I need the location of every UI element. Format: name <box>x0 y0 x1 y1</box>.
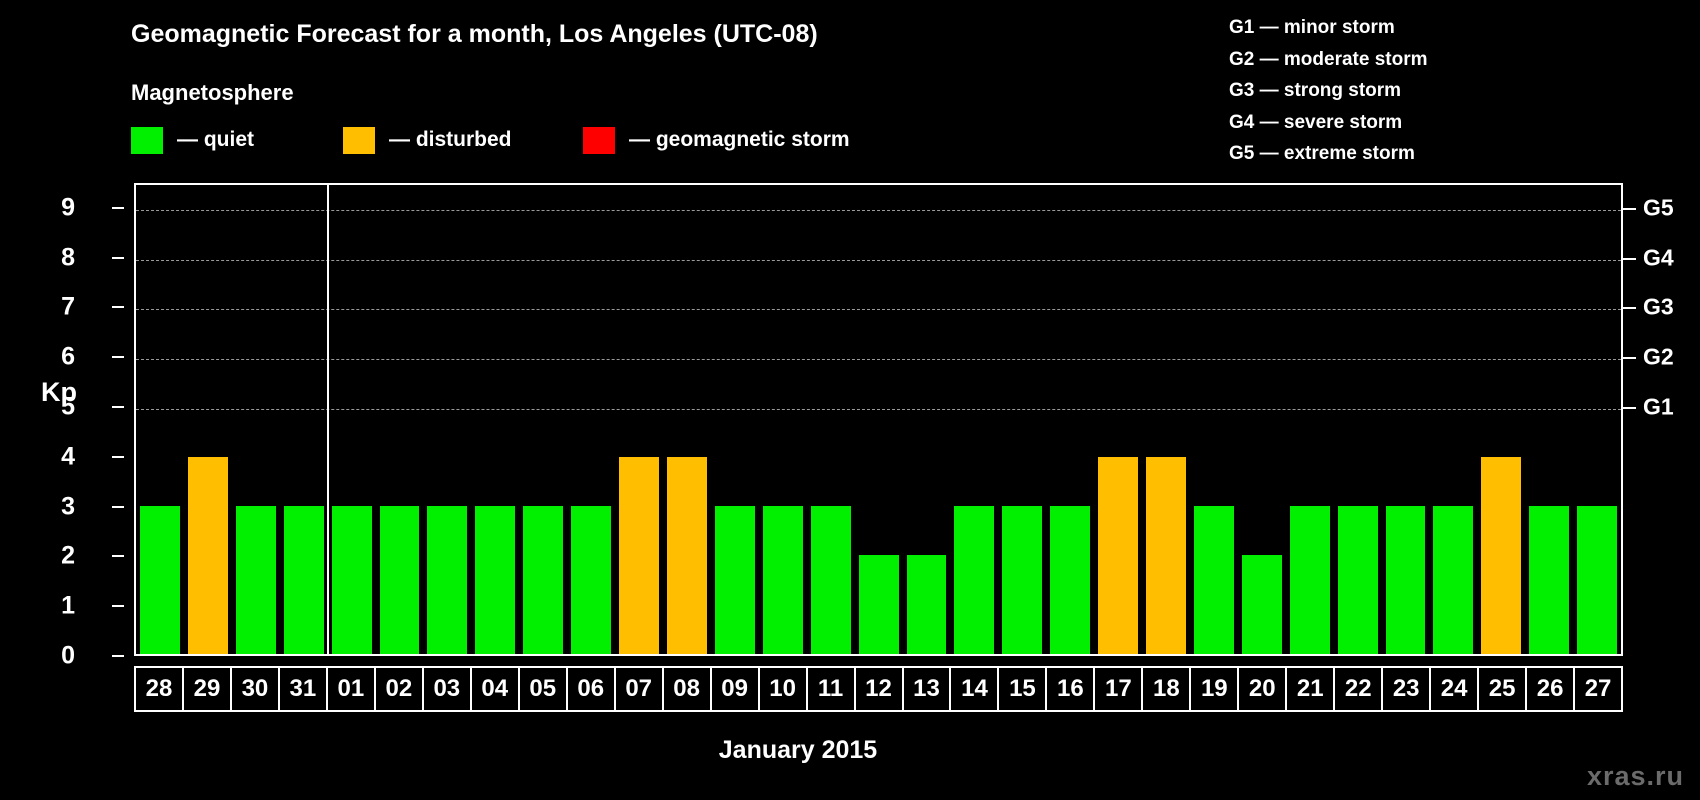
g-tick-mark-G3 <box>1623 307 1636 309</box>
y-tick-mark-0 <box>112 655 124 657</box>
bar-slot-14 <box>950 185 998 654</box>
bar-day-07 <box>619 457 659 654</box>
bar-slot-01 <box>328 185 376 654</box>
bar-day-30 <box>236 506 276 654</box>
y-tick-mark-7 <box>112 306 124 308</box>
day-label-29: 29 <box>184 668 232 710</box>
day-label-12: 12 <box>856 668 904 710</box>
bar-day-21 <box>1290 506 1330 654</box>
y-tick-mark-8 <box>112 257 124 259</box>
bar-day-15 <box>1002 506 1042 654</box>
day-label-18: 18 <box>1143 668 1191 710</box>
legend-label-storm: — geomagnetic storm <box>629 128 850 152</box>
bar-slot-12 <box>855 185 903 654</box>
day-label-25: 25 <box>1479 668 1527 710</box>
legend-item-disturbed: — disturbed <box>343 126 512 154</box>
bar-day-23 <box>1386 506 1426 654</box>
day-label-04: 04 <box>472 668 520 710</box>
bar-slot-30 <box>232 185 280 654</box>
day-label-02: 02 <box>376 668 424 710</box>
bar-slot-16 <box>1046 185 1094 654</box>
day-label-13: 13 <box>904 668 952 710</box>
bar-slot-21 <box>1286 185 1334 654</box>
y-tick-label-1: 1 <box>35 592 75 621</box>
day-label-26: 26 <box>1527 668 1575 710</box>
day-label-19: 19 <box>1191 668 1239 710</box>
legend-item-quiet: — quiet <box>131 126 254 154</box>
day-label-03: 03 <box>424 668 472 710</box>
day-label-20: 20 <box>1239 668 1287 710</box>
legend-swatch-quiet <box>131 127 163 154</box>
legend-swatch-storm <box>583 127 615 154</box>
y-tick-mark-2 <box>112 555 124 557</box>
bar-slot-18 <box>1142 185 1190 654</box>
y-tick-label-3: 3 <box>35 492 75 521</box>
bar-slot-22 <box>1334 185 1382 654</box>
y-tick-label-8: 8 <box>35 243 75 272</box>
bar-day-31 <box>284 506 324 654</box>
day-label-27: 27 <box>1575 668 1621 710</box>
page-title: Geomagnetic Forecast for a month, Los An… <box>131 20 818 49</box>
bar-slot-17 <box>1094 185 1142 654</box>
day-label-07: 07 <box>616 668 664 710</box>
day-label-17: 17 <box>1095 668 1143 710</box>
bar-day-09 <box>715 506 755 654</box>
day-label-08: 08 <box>664 668 712 710</box>
bar-day-01 <box>332 506 372 654</box>
bar-day-11 <box>811 506 851 654</box>
bar-slot-27 <box>1573 185 1621 654</box>
bar-slot-20 <box>1238 185 1286 654</box>
chart-canvas: Geomagnetic Forecast for a month, Los An… <box>0 0 1700 800</box>
day-label-22: 22 <box>1335 668 1383 710</box>
y-tick-mark-9 <box>112 207 124 209</box>
bar-slot-25 <box>1477 185 1525 654</box>
bar-slot-08 <box>663 185 711 654</box>
day-label-05: 05 <box>520 668 568 710</box>
bar-slot-04 <box>471 185 519 654</box>
bar-day-16 <box>1050 506 1090 654</box>
g-tick-mark-G4 <box>1623 258 1636 260</box>
x-axis-title: January 2015 <box>0 736 1700 765</box>
bar-day-04 <box>475 506 515 654</box>
bar-slot-10 <box>759 185 807 654</box>
bar-day-25 <box>1481 457 1521 654</box>
bar-slot-09 <box>711 185 759 654</box>
bar-slot-31 <box>280 185 328 654</box>
day-label-15: 15 <box>999 668 1047 710</box>
day-label-23: 23 <box>1383 668 1431 710</box>
bar-day-06 <box>571 506 611 654</box>
day-label-31: 31 <box>280 668 328 710</box>
bar-day-02 <box>380 506 420 654</box>
g-tick-mark-G2 <box>1623 357 1636 359</box>
y-tick-label-7: 7 <box>35 293 75 322</box>
g-tick-mark-G1 <box>1623 407 1636 409</box>
day-label-11: 11 <box>808 668 856 710</box>
bar-day-12 <box>859 555 899 654</box>
g-scale-row-2: G2 — moderate storm <box>1229 44 1428 76</box>
bar-slot-02 <box>376 185 424 654</box>
legend-item-storm: — geomagnetic storm <box>583 126 850 154</box>
y-tick-label-2: 2 <box>35 542 75 571</box>
bar-slot-29 <box>184 185 232 654</box>
g-tick-label-G3: G3 <box>1643 294 1674 321</box>
x-axis-day-labels: 2829303101020304050607080910111213141516… <box>134 666 1623 712</box>
month-label: January 2015 <box>719 736 877 765</box>
g-scale-row-3: G3 — strong storm <box>1229 75 1428 107</box>
bar-day-22 <box>1338 506 1378 654</box>
bar-slot-24 <box>1429 185 1477 654</box>
legend-label-disturbed: — disturbed <box>389 128 512 152</box>
g-scale-row-5: G5 — extreme storm <box>1229 138 1428 170</box>
bar-day-24 <box>1433 506 1473 654</box>
bar-slot-15 <box>998 185 1046 654</box>
g-scale-legend: G1 — minor stormG2 — moderate stormG3 — … <box>1229 12 1428 170</box>
y-tick-mark-5 <box>112 406 124 408</box>
day-label-06: 06 <box>568 668 616 710</box>
bar-slot-07 <box>615 185 663 654</box>
day-label-01: 01 <box>328 668 376 710</box>
y-tick-mark-6 <box>112 356 124 358</box>
y-tick-mark-3 <box>112 506 124 508</box>
g-tick-label-G4: G4 <box>1643 244 1674 271</box>
bar-series <box>136 185 1621 654</box>
y-tick-label-4: 4 <box>35 442 75 471</box>
bar-slot-26 <box>1525 185 1573 654</box>
g-scale-row-4: G4 — severe storm <box>1229 107 1428 139</box>
legend-swatch-disturbed <box>343 127 375 154</box>
watermark: xras.ru <box>1587 761 1684 792</box>
day-label-10: 10 <box>760 668 808 710</box>
bar-day-10 <box>763 506 803 654</box>
magnetosphere-label: Magnetosphere <box>131 80 294 106</box>
g-tick-mark-G5 <box>1623 208 1636 210</box>
g-tick-label-G5: G5 <box>1643 194 1674 221</box>
day-label-14: 14 <box>951 668 999 710</box>
plot-area <box>134 183 1623 656</box>
bar-slot-13 <box>903 185 951 654</box>
g-tick-label-G2: G2 <box>1643 344 1674 371</box>
bar-day-29 <box>188 457 228 654</box>
g-scale-row-1: G1 — minor storm <box>1229 12 1428 44</box>
bar-day-20 <box>1242 555 1282 654</box>
bar-slot-23 <box>1382 185 1430 654</box>
y-tick-mark-4 <box>112 456 124 458</box>
y-tick-label-6: 6 <box>35 343 75 372</box>
y-tick-label-9: 9 <box>35 193 75 222</box>
bar-slot-05 <box>519 185 567 654</box>
day-label-28: 28 <box>136 668 184 710</box>
bar-slot-06 <box>567 185 615 654</box>
bar-slot-03 <box>423 185 471 654</box>
bar-day-18 <box>1146 457 1186 654</box>
g-tick-label-G1: G1 <box>1643 394 1674 421</box>
legend-label-quiet: — quiet <box>177 128 254 152</box>
bar-day-08 <box>667 457 707 654</box>
bar-day-19 <box>1194 506 1234 654</box>
y-tick-label-5: 5 <box>35 393 75 422</box>
bar-day-14 <box>954 506 994 654</box>
day-label-24: 24 <box>1431 668 1479 710</box>
bar-day-27 <box>1577 506 1617 654</box>
bar-slot-19 <box>1190 185 1238 654</box>
bar-slot-11 <box>807 185 855 654</box>
bar-day-05 <box>523 506 563 654</box>
bar-day-28 <box>140 506 180 654</box>
day-label-16: 16 <box>1047 668 1095 710</box>
bar-day-03 <box>427 506 467 654</box>
y-tick-mark-1 <box>112 605 124 607</box>
bar-day-13 <box>907 555 947 654</box>
day-label-30: 30 <box>232 668 280 710</box>
y-tick-label-0: 0 <box>35 642 75 671</box>
day-label-21: 21 <box>1287 668 1335 710</box>
day-label-09: 09 <box>712 668 760 710</box>
bar-day-26 <box>1529 506 1569 654</box>
bar-slot-28 <box>136 185 184 654</box>
bar-day-17 <box>1098 457 1138 654</box>
